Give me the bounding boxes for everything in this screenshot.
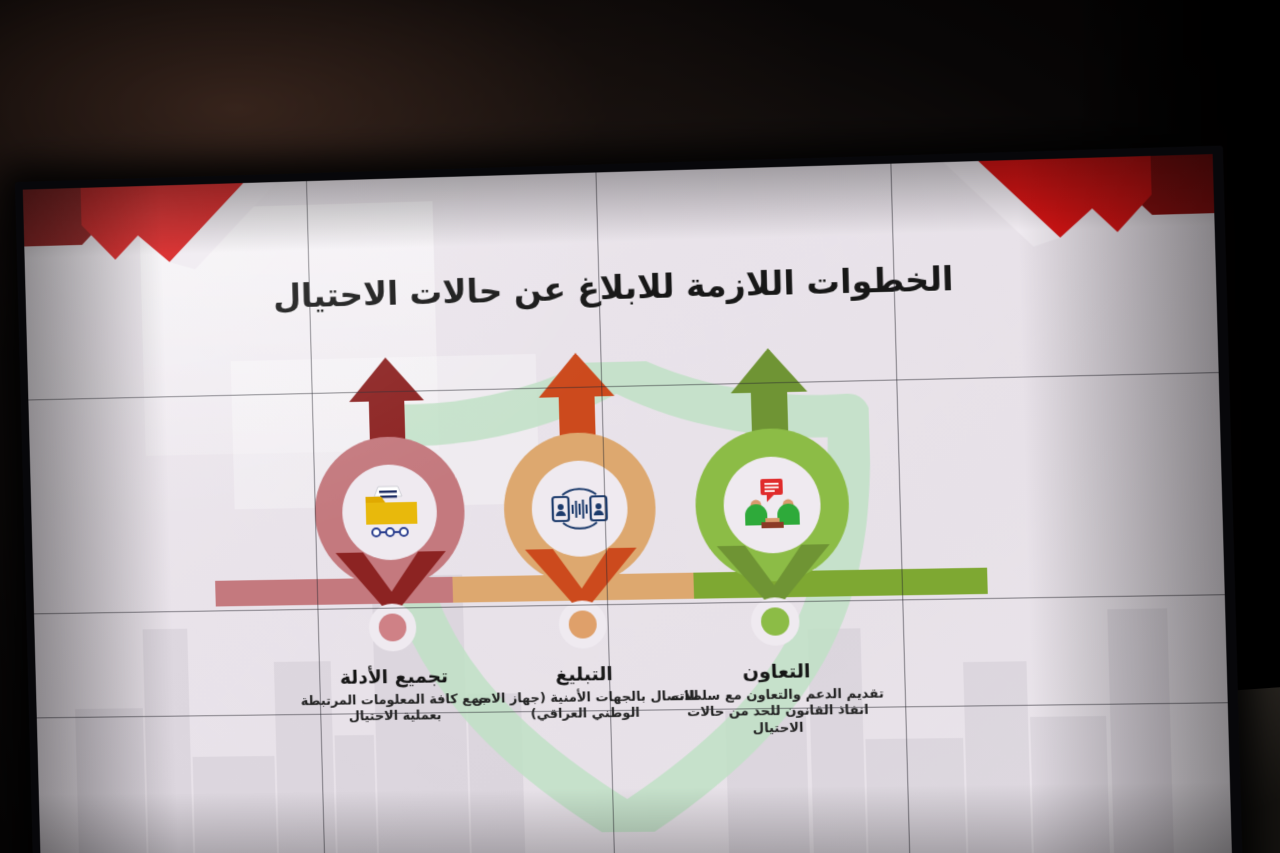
step-body-3: تقديم الدعم والتعاون مع سلطات انفاذ القا… <box>660 686 895 739</box>
step-dot-3 <box>750 597 800 646</box>
presentation-slide: 1 <box>23 154 1233 853</box>
up-arrow-icon <box>730 347 809 441</box>
step-2[interactable]: التبليغ الاتصال بالجهات الأمنية (جهاز ال… <box>476 350 675 355</box>
step-icon-well-3 <box>722 456 821 554</box>
video-wall-screen[interactable]: 1 <box>23 154 1233 853</box>
process-diagram: 1 <box>27 337 1230 827</box>
phones-voice-call-icon <box>548 480 611 537</box>
screen-surface: 1 <box>23 154 1233 853</box>
step-icon-well-1 <box>341 464 438 561</box>
step-dot-2 <box>558 600 607 649</box>
step-dot-1 <box>368 603 417 651</box>
step-icon-well-2 <box>531 460 629 558</box>
step-3[interactable]: التعاون تقديم الدعم والتعاون مع سلطات ان… <box>667 346 869 351</box>
step-heading-3: التعاون <box>660 660 895 685</box>
photograph-of-presentation-screen: 1 <box>0 0 1280 853</box>
up-arrow-icon <box>348 357 425 450</box>
handshake-meeting-icon <box>740 476 804 533</box>
folder-document-icon <box>358 484 421 541</box>
step-caption-3: التعاون تقديم الدعم والتعاون مع سلطات ان… <box>660 660 896 739</box>
up-arrow-icon <box>538 352 616 446</box>
